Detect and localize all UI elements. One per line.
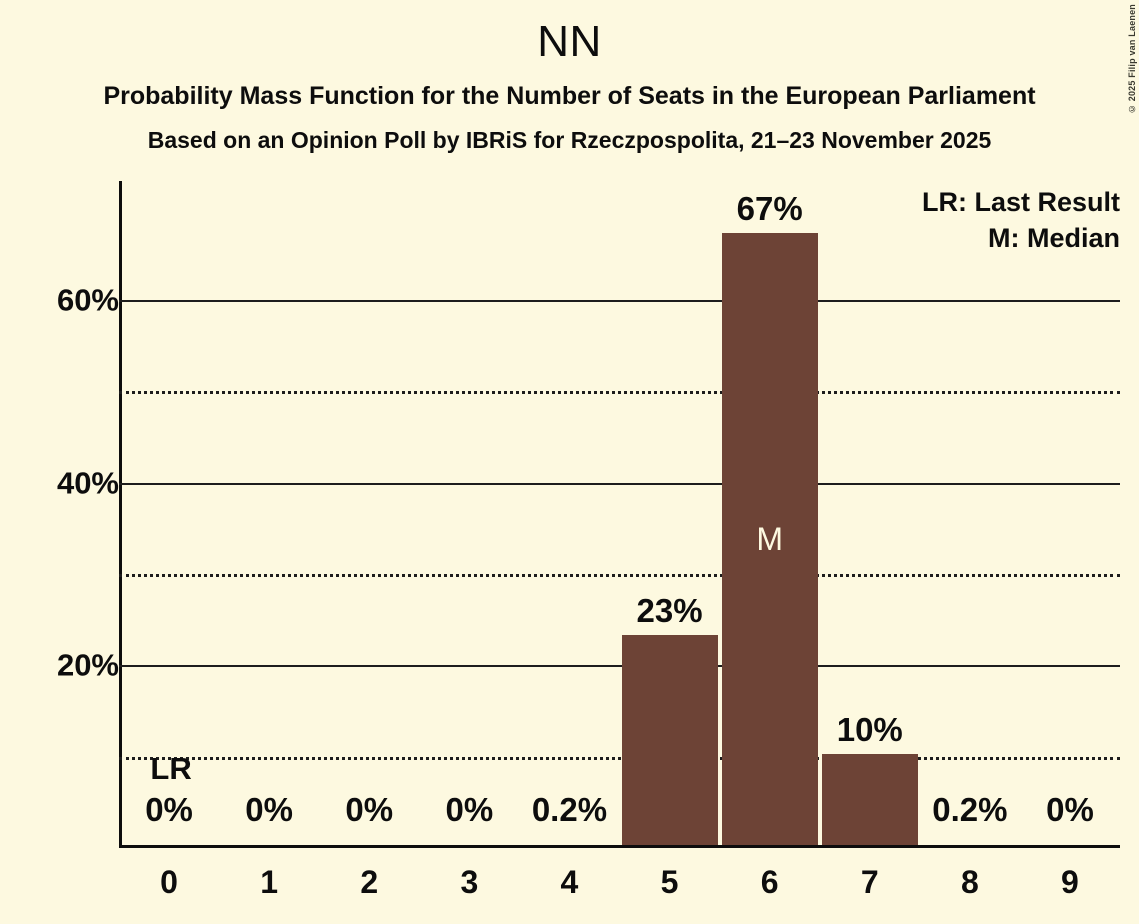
bar-seat-6: M xyxy=(722,233,818,845)
value-label-seat-4: 0.2% xyxy=(532,793,607,826)
gridline-minor xyxy=(119,391,1120,394)
x-axis-tick-4: 4 xyxy=(561,866,579,898)
last-result-marker: LR xyxy=(150,753,191,784)
gridline-minor xyxy=(119,574,1120,577)
x-axis-tick-1: 1 xyxy=(260,866,278,898)
x-axis-tick-0: 0 xyxy=(160,866,178,898)
gridline-major xyxy=(119,300,1120,302)
value-label-seat-7: 10% xyxy=(837,713,903,746)
x-axis-tick-9: 9 xyxy=(1061,866,1079,898)
x-axis-tick-7: 7 xyxy=(861,866,879,898)
gridline-major xyxy=(119,483,1120,485)
value-label-seat-3: 0% xyxy=(445,793,493,826)
chart-subtitle: Probability Mass Function for the Number… xyxy=(0,64,1139,109)
value-label-seat-2: 0% xyxy=(345,793,393,826)
gridline-major xyxy=(119,665,1120,667)
bar-seat-7 xyxy=(822,754,918,845)
x-axis-tick-3: 3 xyxy=(460,866,478,898)
gridline-minor xyxy=(119,757,1120,760)
y-axis-tick-40: 40% xyxy=(57,467,119,498)
x-axis-tick-5: 5 xyxy=(661,866,679,898)
x-axis-tick-2: 2 xyxy=(360,866,378,898)
y-axis-line xyxy=(119,181,122,848)
x-axis-tick-6: 6 xyxy=(761,866,779,898)
value-label-seat-1: 0% xyxy=(245,793,293,826)
value-label-seat-6: 67% xyxy=(737,192,803,225)
value-label-seat-9: 0% xyxy=(1046,793,1094,826)
value-label-seat-0: 0% xyxy=(145,793,193,826)
x-axis-tick-8: 8 xyxy=(961,866,979,898)
plot-area: M xyxy=(119,181,1120,848)
chart-header: NN Probability Mass Function for the Num… xyxy=(0,0,1139,152)
y-axis-tick-60: 60% xyxy=(57,284,119,315)
median-marker: M xyxy=(722,523,818,555)
x-axis-line xyxy=(119,845,1120,848)
value-label-seat-8: 0.2% xyxy=(932,793,1007,826)
chart-source-line: Based on an Opinion Poll by IBRiS for Rz… xyxy=(0,109,1139,152)
bar-seat-5 xyxy=(622,635,718,845)
copyright-notice: © 2025 Filip van Laenen xyxy=(1127,4,1137,114)
y-axis-tick-20: 20% xyxy=(57,650,119,681)
page-title: NN xyxy=(0,0,1139,64)
value-label-seat-5: 23% xyxy=(637,594,703,627)
